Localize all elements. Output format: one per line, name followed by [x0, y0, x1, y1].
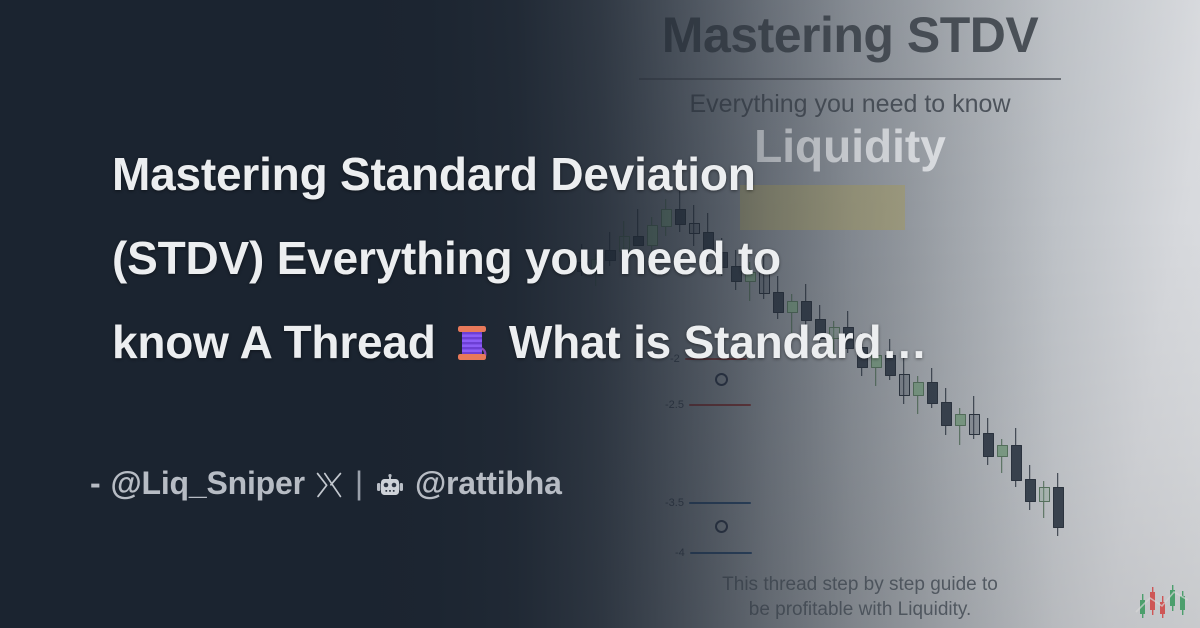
tweet-text-line-2: (STDV) Everything you need to	[112, 216, 1132, 300]
tweet-text: Mastering Standard Deviation (STDV) Ever…	[112, 132, 1132, 384]
x-logo-icon[interactable]	[315, 470, 343, 498]
tweet-text-line-3-b: What is Standard…	[509, 316, 927, 368]
attribution-dash: -	[90, 465, 100, 502]
attribution: - @Liq_Sniper |	[90, 465, 562, 502]
thread-spool-emoji	[450, 307, 494, 351]
service-handle[interactable]: @rattibha	[415, 465, 562, 502]
attribution-separator: |	[353, 465, 365, 502]
tweet-preview-card: Mastering STDV Everything you need to kn…	[0, 0, 1200, 628]
tweet-text-line-1: Mastering Standard Deviation	[112, 132, 1132, 216]
foreground-layer: Mastering Standard Deviation (STDV) Ever…	[0, 0, 1200, 628]
tweet-text-line-3-a: know A Thread	[112, 316, 436, 368]
robot-emoji	[375, 471, 405, 497]
author-handle[interactable]: @Liq_Sniper	[110, 465, 304, 502]
tweet-text-line-3: know A Thread	[112, 300, 1132, 384]
